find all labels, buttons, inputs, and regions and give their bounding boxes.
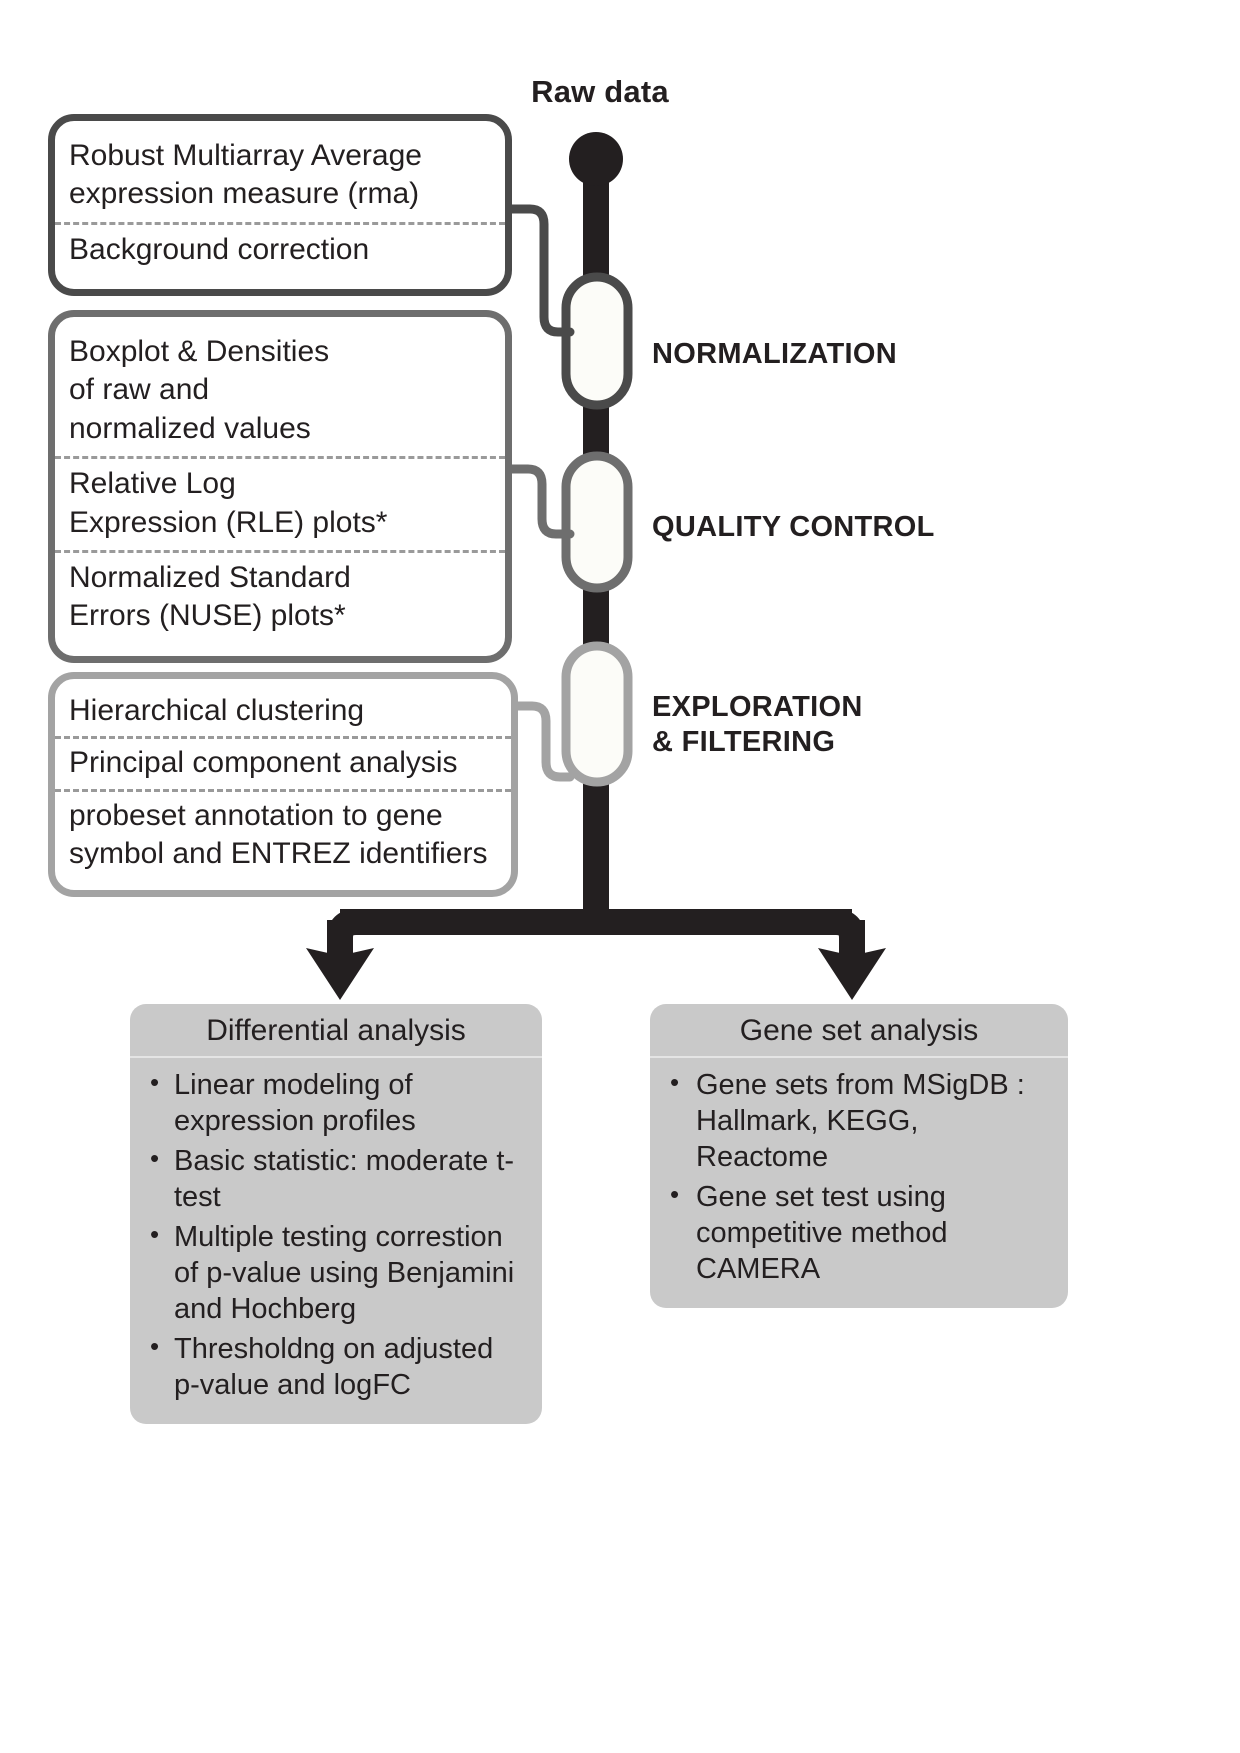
list-item: Basic statistic: moderate t-test xyxy=(146,1144,526,1216)
list-item: Multiple testing correstion of p-value u… xyxy=(146,1220,526,1328)
step-row: Boxplot & Densitiesof raw andnormalized … xyxy=(55,327,505,456)
outcome-panel-differential-analysis: Differential analysis Linear modeling of… xyxy=(130,1004,542,1424)
outcome-panel-gene-set-analysis: Gene set analysis Gene sets from MSigDB … xyxy=(650,1004,1068,1308)
outcome-bullet-list: Gene sets from MSigDB : Hallmark, KEGG, … xyxy=(650,1058,1068,1308)
raw-data-title: Raw data xyxy=(460,74,740,110)
step-card-normalization: Robust Multiarray Averageexpression meas… xyxy=(48,114,512,296)
step-row: Relative LogExpression (RLE) plots* xyxy=(55,456,505,550)
step-row: Robust Multiarray Averageexpression meas… xyxy=(55,131,505,222)
stage-label-exploration-filtering: EXPLORATION& FILTERING xyxy=(652,690,863,761)
branch-right-drop xyxy=(839,920,865,958)
outcome-panel-title: Differential analysis xyxy=(130,1004,542,1058)
capsule-quality-control xyxy=(566,456,628,588)
step-row: Normalized StandardErrors (NUSE) plots* xyxy=(55,550,505,644)
step-card-quality-control: Boxplot & Densitiesof raw andnormalized … xyxy=(48,310,512,663)
outcome-panel-title: Gene set analysis xyxy=(650,1004,1068,1058)
raw-data-node xyxy=(569,132,623,186)
spine-trunk xyxy=(583,165,609,905)
stage-label-quality-control: QUALITY CONTROL xyxy=(652,510,935,545)
stage-label-normalization: NORMALIZATION xyxy=(652,337,897,372)
list-item: Thresholdng on adjusted p-value and logF… xyxy=(146,1332,526,1404)
arrowhead-geneset xyxy=(818,940,886,1000)
capsule-normalization xyxy=(566,277,628,405)
branch-stem xyxy=(583,880,609,928)
outcome-bullet-list: Linear modeling of expression profiles B… xyxy=(130,1058,542,1424)
list-item: Gene set test using competitive method C… xyxy=(666,1180,1052,1288)
step-row: probeset annotation to genesymbol and EN… xyxy=(55,789,511,880)
list-item: Linear modeling of expression profiles xyxy=(146,1068,526,1140)
step-row: Background correction xyxy=(55,222,505,277)
arrowhead-differential xyxy=(306,940,374,1000)
branch-left-drop xyxy=(327,920,353,958)
capsule-exploration xyxy=(566,646,628,782)
connector-normalization xyxy=(508,209,570,332)
step-row: Hierarchical clustering xyxy=(55,687,511,736)
connector-quality-control xyxy=(510,469,570,534)
step-card-exploration-filtering: Hierarchical clustering Principal compon… xyxy=(48,672,518,897)
connector-exploration xyxy=(516,706,570,777)
step-row: Principal component analysis xyxy=(55,736,511,788)
list-item: Gene sets from MSigDB : Hallmark, KEGG, … xyxy=(666,1068,1052,1176)
